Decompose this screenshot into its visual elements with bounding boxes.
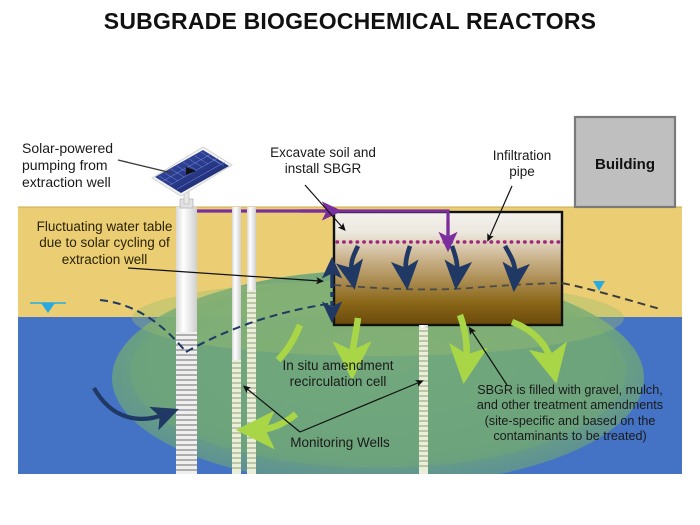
label-monitoring-wells: Monitoring Wells xyxy=(275,435,405,451)
monitoring-well-screen xyxy=(247,290,256,474)
monitoring-well xyxy=(247,207,256,474)
monitoring-well-screen xyxy=(419,328,428,474)
solar-panel-icon xyxy=(152,147,232,204)
label-in-situ-recirculation-cell: In situ amendment recirculation cell xyxy=(263,358,413,391)
diagram-canvas: SUBGRADE BIOGEOCHEMICAL REACTORS xyxy=(0,0,700,525)
extraction-well-screen xyxy=(176,332,197,474)
monitoring-well xyxy=(232,207,241,474)
monitoring-well xyxy=(419,325,428,474)
label-infiltration-pipe: Infiltration pipe xyxy=(477,148,567,181)
label-excavate-install-sbgr: Excavate soil and install SBGR xyxy=(258,145,388,178)
monitoring-well-screen xyxy=(232,360,241,474)
label-fluctuating-water-table: Fluctuating water table due to solar cyc… xyxy=(22,219,187,268)
label-building: Building xyxy=(575,156,675,173)
label-sbgr-fill-description: SBGR is filled with gravel, mulch, and o… xyxy=(455,383,685,444)
label-solar-powered-pumping: Solar-powered pumping from extraction we… xyxy=(22,140,142,191)
